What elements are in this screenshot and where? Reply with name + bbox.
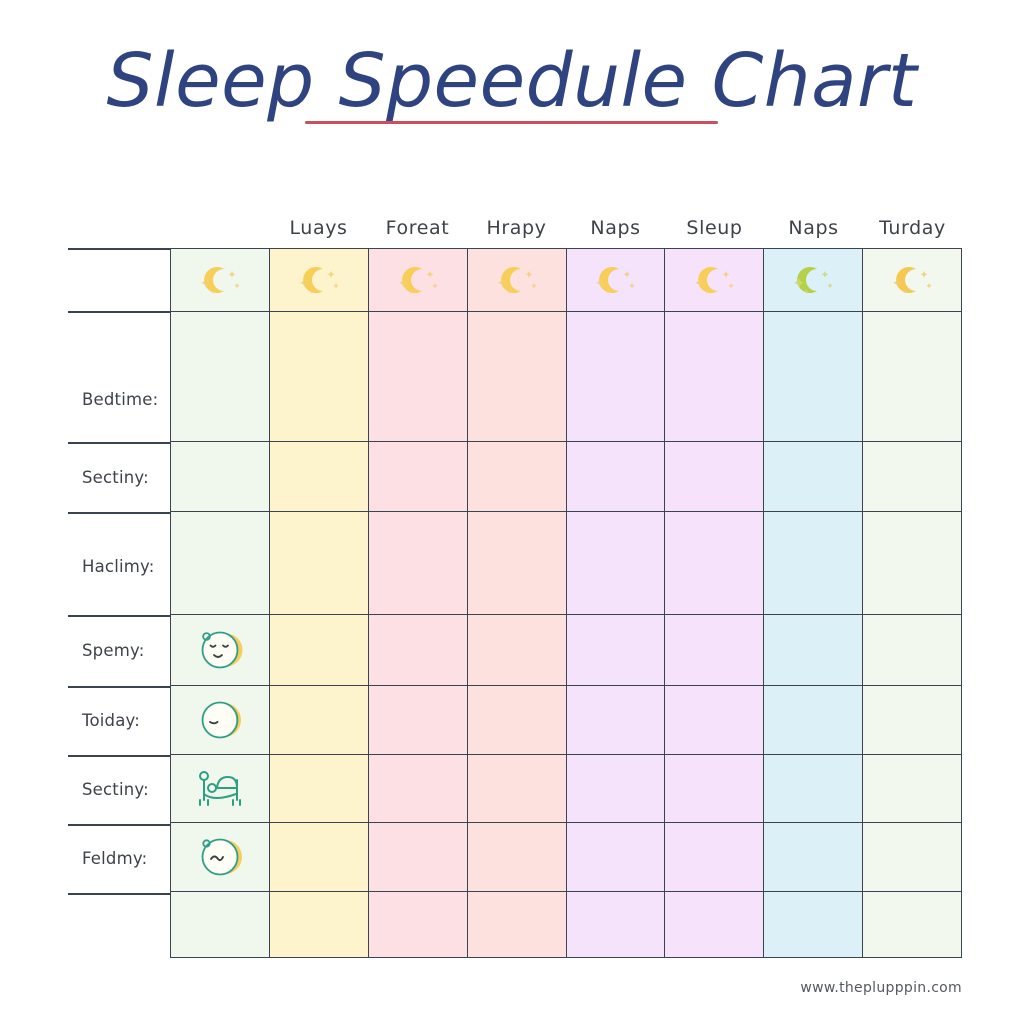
footer-url: www.theplupppin.com: [800, 980, 962, 996]
cell-5-0[interactable]: [171, 755, 270, 823]
cell-1-0[interactable]: [171, 442, 270, 511]
cell-0-6[interactable]: [764, 312, 863, 442]
table-row: [171, 312, 961, 443]
table-row: [171, 442, 961, 512]
cell-0-2[interactable]: [369, 312, 468, 442]
row-divider: [68, 824, 170, 826]
cell-3-6[interactable]: [764, 615, 863, 685]
cell-4-6[interactable]: [764, 686, 863, 754]
header-cell-1[interactable]: [270, 249, 369, 311]
column-header-6: Naps: [764, 209, 863, 247]
cell-0-7[interactable]: [863, 312, 961, 442]
cell-5-5[interactable]: [665, 755, 764, 823]
cell-7-0[interactable]: [171, 892, 270, 957]
cell-6-7[interactable]: [863, 823, 961, 891]
cell-0-4[interactable]: [567, 312, 666, 442]
cell-5-3[interactable]: [468, 755, 567, 823]
moon-star-icon: [884, 263, 940, 297]
cell-3-7[interactable]: [863, 615, 961, 685]
row-label-sectiny-2: Sectiny:: [82, 780, 149, 799]
table-row: [171, 755, 961, 824]
column-header-5: Sleup: [665, 209, 764, 247]
cell-2-1[interactable]: [270, 512, 369, 614]
moon-face-icon: [197, 697, 243, 743]
cell-7-6[interactable]: [764, 892, 863, 957]
table-row: [171, 823, 961, 892]
cell-2-3[interactable]: [468, 512, 567, 614]
row-label-haclimy: Haclimy:: [82, 557, 155, 576]
row-label-column: Bedtime: Sectiny: Haclimy: Spemy: Toiday…: [68, 248, 170, 958]
schedule-grid: [170, 248, 962, 958]
cell-4-3[interactable]: [468, 686, 567, 754]
column-header-1: Luays: [269, 209, 368, 247]
row-divider: [68, 893, 170, 895]
column-header-3: Hrapy: [467, 209, 566, 247]
cell-1-4[interactable]: [567, 442, 666, 511]
moon-star-icon: [785, 263, 841, 297]
cell-5-7[interactable]: [863, 755, 961, 823]
column-header-4: Naps: [566, 209, 665, 247]
page-title: Sleep Speedule Chart: [0, 44, 1024, 118]
cell-2-5[interactable]: [665, 512, 764, 614]
cell-7-3[interactable]: [468, 892, 567, 957]
cell-4-2[interactable]: [369, 686, 468, 754]
column-header-7: Turday: [863, 209, 962, 247]
moon-star-icon: [390, 263, 446, 297]
cell-0-0[interactable]: [171, 312, 270, 442]
header-cell-0[interactable]: [171, 249, 270, 311]
cell-6-5[interactable]: [665, 823, 764, 891]
sleep-schedule-chart: Sleep Speedule Chart Luays Foreat Hrapy …: [0, 0, 1024, 1024]
moon-star-icon: [192, 263, 248, 297]
cell-3-3[interactable]: [468, 615, 567, 685]
cell-4-7[interactable]: [863, 686, 961, 754]
cell-3-2[interactable]: [369, 615, 468, 685]
cell-4-5[interactable]: [665, 686, 764, 754]
cell-6-6[interactable]: [764, 823, 863, 891]
table-row: [171, 615, 961, 686]
title-underline: [305, 121, 718, 124]
moon-star-icon: [489, 263, 545, 297]
cell-1-2[interactable]: [369, 442, 468, 511]
row-divider: [68, 615, 170, 617]
header-cell-2[interactable]: [369, 249, 468, 311]
cell-7-7[interactable]: [863, 892, 961, 957]
cell-2-2[interactable]: [369, 512, 468, 614]
header-cell-7[interactable]: [863, 249, 961, 311]
cell-6-2[interactable]: [369, 823, 468, 891]
cell-2-7[interactable]: [863, 512, 961, 614]
cell-2-0[interactable]: [171, 512, 270, 614]
header-cell-5[interactable]: [665, 249, 764, 311]
row-divider: [68, 311, 170, 313]
cell-4-4[interactable]: [567, 686, 666, 754]
cell-5-6[interactable]: [764, 755, 863, 823]
cell-6-1[interactable]: [270, 823, 369, 891]
column-header-0: [170, 209, 269, 247]
row-label-toiday: Toiday:: [82, 711, 140, 730]
moon-star-icon: [587, 263, 643, 297]
cell-3-4[interactable]: [567, 615, 666, 685]
grid-header-row: [171, 249, 961, 312]
cell-7-4[interactable]: [567, 892, 666, 957]
sleeping-face-icon: [197, 834, 243, 880]
cell-4-0[interactable]: [171, 686, 270, 754]
header-cell-3[interactable]: [468, 249, 567, 311]
row-divider: [68, 248, 170, 250]
cell-0-5[interactable]: [665, 312, 764, 442]
cell-7-2[interactable]: [369, 892, 468, 957]
row-divider: [68, 686, 170, 688]
table-row: [171, 686, 961, 755]
header-cell-4[interactable]: [567, 249, 666, 311]
moon-star-icon: [291, 263, 347, 297]
cell-3-1[interactable]: [270, 615, 369, 685]
title-block: Sleep Speedule Chart: [0, 44, 1024, 118]
cell-5-2[interactable]: [369, 755, 468, 823]
cell-3-5[interactable]: [665, 615, 764, 685]
cell-1-6[interactable]: [764, 442, 863, 511]
cell-7-1[interactable]: [270, 892, 369, 957]
cell-2-4[interactable]: [567, 512, 666, 614]
row-label-feldmy: Feldmy:: [82, 849, 147, 868]
cell-1-3[interactable]: [468, 442, 567, 511]
table-row: [171, 892, 961, 957]
column-header-labels: Luays Foreat Hrapy Naps Sleup Naps Turda…: [170, 209, 962, 247]
row-divider: [68, 512, 170, 514]
cell-0-3[interactable]: [468, 312, 567, 442]
column-header-2: Foreat: [368, 209, 467, 247]
cell-4-1[interactable]: [270, 686, 369, 754]
header-cell-6[interactable]: [764, 249, 863, 311]
cell-5-1[interactable]: [270, 755, 369, 823]
cell-5-4[interactable]: [567, 755, 666, 823]
cell-7-5[interactable]: [665, 892, 764, 957]
cell-1-7[interactable]: [863, 442, 961, 511]
bed-icon: [195, 766, 245, 810]
table-row: [171, 512, 961, 615]
cell-1-5[interactable]: [665, 442, 764, 511]
cell-6-4[interactable]: [567, 823, 666, 891]
cell-3-0[interactable]: [171, 615, 270, 685]
row-label-spemy: Spemy:: [82, 641, 145, 660]
row-label-sectiny-1: Sectiny:: [82, 468, 149, 487]
cell-0-1[interactable]: [270, 312, 369, 442]
cell-2-6[interactable]: [764, 512, 863, 614]
row-divider: [68, 442, 170, 444]
sleeping-face-icon: [197, 627, 243, 673]
moon-star-icon: [686, 263, 742, 297]
cell-1-1[interactable]: [270, 442, 369, 511]
row-divider: [68, 755, 170, 757]
cell-6-3[interactable]: [468, 823, 567, 891]
row-label-bedtime: Bedtime:: [82, 390, 158, 409]
cell-6-0[interactable]: [171, 823, 270, 891]
